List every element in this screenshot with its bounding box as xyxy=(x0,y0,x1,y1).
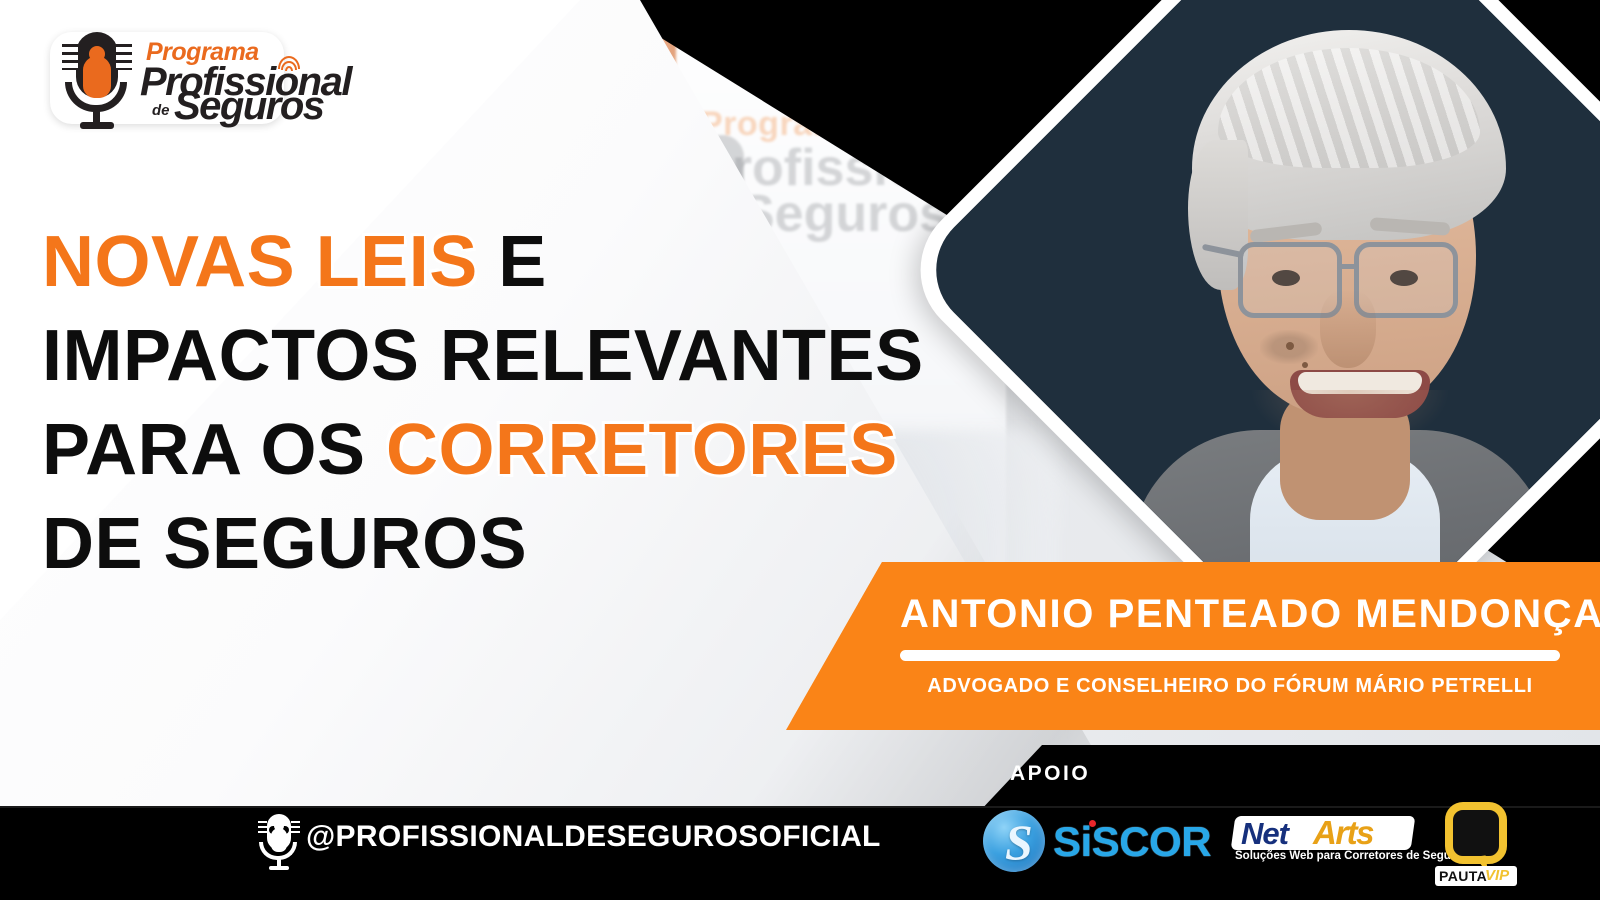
poster-stage: exclusivo Programa profissional Seguros xyxy=(0,0,1600,900)
title-line-1-rest: E xyxy=(478,222,547,302)
microphone-icon xyxy=(62,30,130,128)
sponsor-logos: S SiSCOR Net Arts Soluções Web para Corr… xyxy=(975,800,1575,892)
sponsor-siscor[interactable]: S SiSCOR xyxy=(975,806,1205,876)
title-line-3: PARA OS CORRETORES xyxy=(42,403,902,497)
netarts-tagline: Soluções Web para Corretores de Seguros xyxy=(1235,850,1413,862)
wifi-waves-icon xyxy=(278,56,300,72)
logo-text-de: de xyxy=(152,102,170,119)
title-line-3-rest: PARA OS xyxy=(42,410,386,490)
title-line-1-highlight: NOVAS LEIS xyxy=(42,222,478,302)
title-line-4: DE SEGUROS xyxy=(42,497,902,591)
title-line-2: IMPACTOS RELEVANTES xyxy=(42,309,902,403)
siscor-swirl-icon: S xyxy=(983,810,1045,872)
title-line-4-text: DE SEGUROS xyxy=(42,504,527,584)
pautavip-vip: VIP xyxy=(1485,867,1509,884)
netarts-word-net: Net xyxy=(1241,816,1288,852)
title-line-3-highlight: CORRETORES xyxy=(386,410,898,490)
speaker-divider xyxy=(900,650,1560,661)
program-logo: Programa Profissional de Seguros xyxy=(36,22,288,134)
speaker-photo-frame xyxy=(1020,0,1600,580)
speaker-role: ADVOGADO E CONSELHEIRO DO FÓRUM MÁRIO PE… xyxy=(900,675,1560,698)
sponsor-netarts[interactable]: Net Arts Soluções Web para Corretores de… xyxy=(1233,810,1413,872)
speech-bubble-icon xyxy=(1445,802,1507,864)
sponsors-label: APOIO xyxy=(1010,762,1090,786)
siscor-mark-letter: S xyxy=(1005,820,1039,866)
pautavip-word: PAUTA xyxy=(1439,868,1487,884)
netarts-word-arts: Arts xyxy=(1313,814,1373,852)
speaker-portrait xyxy=(950,0,1600,650)
title-line-2-text: IMPACTOS RELEVANTES xyxy=(42,316,924,396)
page-title: NOVAS LEIS E IMPACTOS RELEVANTES PARA OS… xyxy=(42,215,902,591)
speaker-name: ANTONIO PENTEADO MENDONÇA xyxy=(900,592,1560,637)
sponsor-pautavip[interactable]: PAUTA VIP xyxy=(1427,800,1523,892)
siscor-wordmark: SiSCOR xyxy=(1053,818,1211,866)
siscor-i-dot-icon xyxy=(1089,820,1096,827)
microphone-icon xyxy=(258,812,300,874)
logo-text-seguros: Seguros xyxy=(174,84,324,129)
social-handle[interactable]: @PROFISSIONALDESEGUROSOFICIAL xyxy=(306,820,881,854)
title-line-1: NOVAS LEIS E xyxy=(42,215,902,309)
